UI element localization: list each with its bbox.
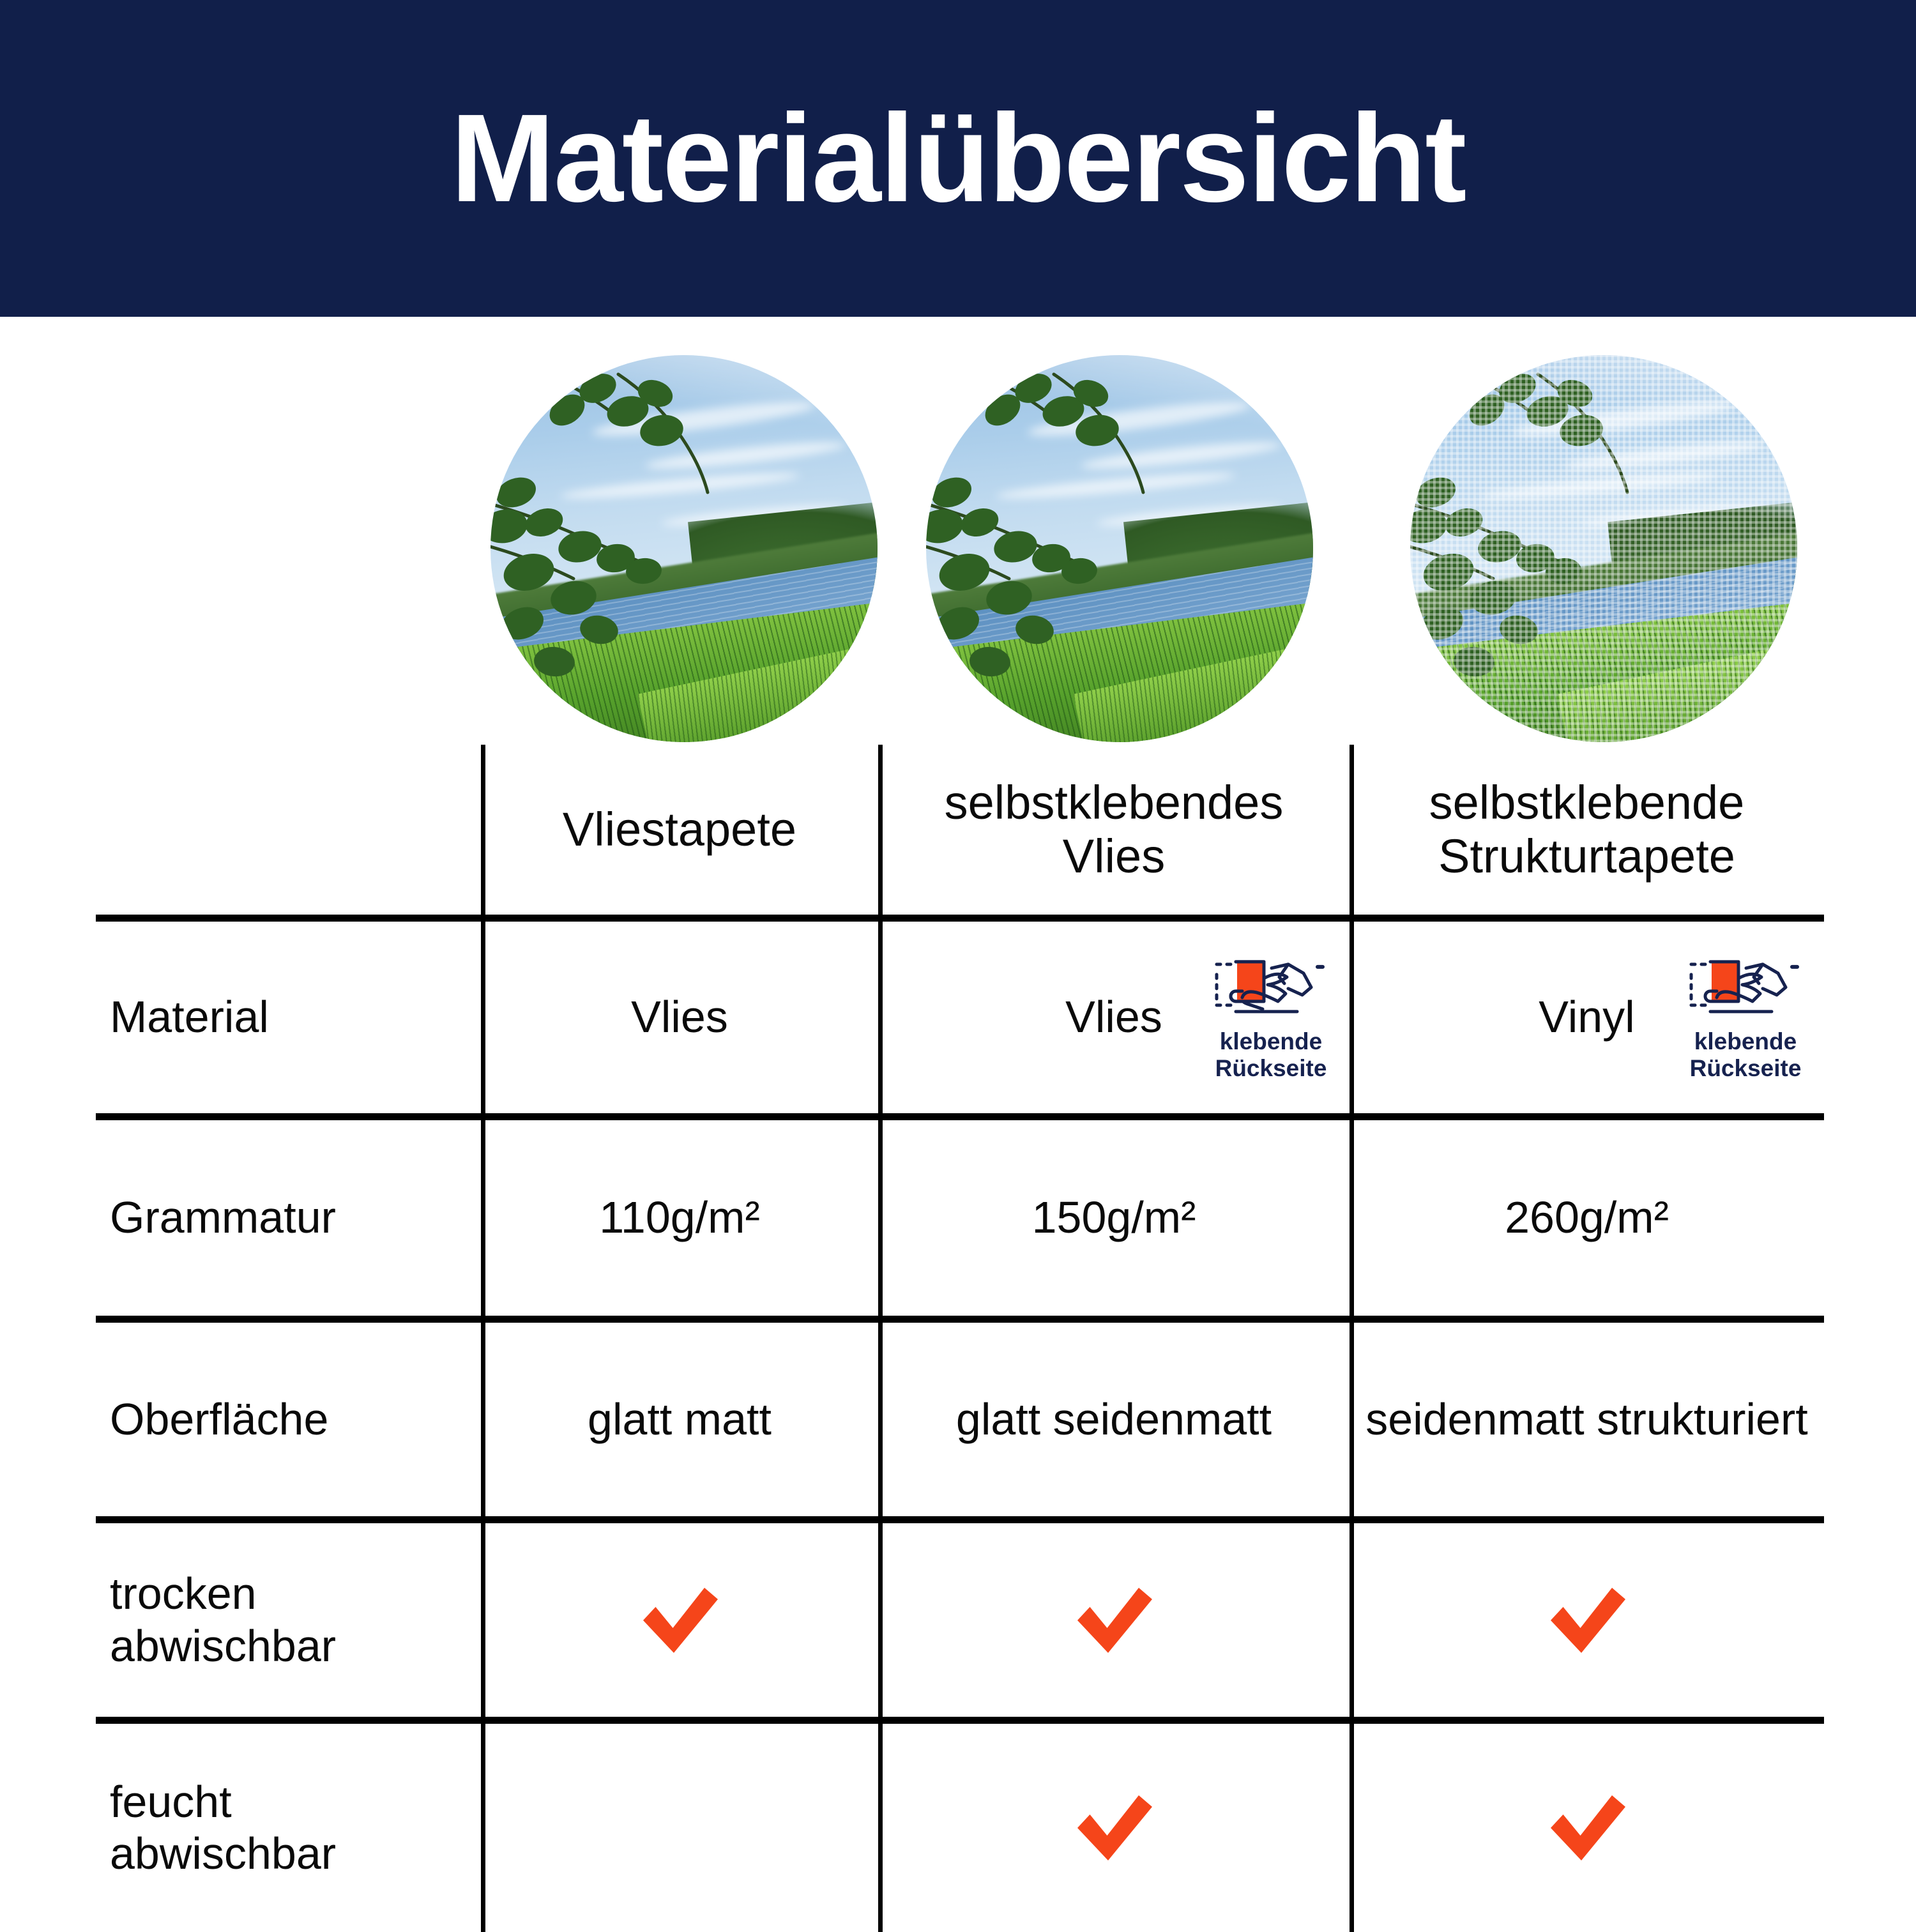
row-label-feucht-abwischbar: feucht abwischbar (96, 1724, 481, 1932)
row-label-oberflaeche: Oberfläche (96, 1323, 481, 1516)
page-title: Materialübersicht (451, 96, 1466, 221)
table-row-feucht-abwischbar: feucht abwischbar (96, 1724, 1824, 1932)
badge-line-1: klebende (1694, 1028, 1797, 1054)
check-icon (1539, 1780, 1635, 1876)
row-divider (96, 1113, 1824, 1120)
cell-grammatur-selbstklebendes-vlies: 150g/m² (878, 1120, 1350, 1316)
cell-feucht-selbstklebendes-vlies (878, 1724, 1350, 1932)
birch-branch-overlay (926, 355, 1313, 742)
lake-scene-image (490, 355, 878, 742)
table-header-row: Vliestapete selbstklebendes Vlies selbst… (96, 745, 1824, 915)
badge-line-2: Rückseite (1690, 1055, 1802, 1081)
adhesive-backing-badge: klebende Rückseite (1676, 953, 1815, 1082)
column-header-vliestapete: Vliestapete (481, 745, 878, 915)
check-icon (1066, 1572, 1162, 1668)
row-divider (96, 1516, 1824, 1523)
cell-feucht-strukturtapete (1350, 1724, 1824, 1932)
check-icon (1539, 1572, 1635, 1668)
row-divider (96, 1316, 1824, 1323)
column-header-selbstklebende-strukturtapete: selbstklebende Strukturtapete (1350, 745, 1824, 915)
cell-material-strukturtapete: Vinyl (1350, 922, 1824, 1113)
cell-oberflaeche-vliestapete: glatt matt (481, 1323, 878, 1516)
cell-trocken-vliestapete (481, 1523, 878, 1717)
adhesive-badge-text: klebende Rückseite (1690, 1028, 1802, 1082)
swatch-row (0, 355, 1916, 745)
row-divider (96, 915, 1824, 922)
cell-oberflaeche-selbstklebendes-vlies: glatt seidenmatt (878, 1323, 1350, 1516)
peel-sticker-hand-icon (1210, 953, 1332, 1024)
peel-sticker-hand-icon (1685, 953, 1806, 1024)
adhesive-backing-badge: klebende Rückseite (1201, 953, 1341, 1082)
table-header-corner (96, 745, 481, 915)
cell-value: Vlies (1065, 991, 1162, 1043)
check-icon (632, 1572, 727, 1668)
cell-oberflaeche-strukturtapete: seidenmatt strukturiert (1350, 1323, 1824, 1516)
cell-grammatur-vliestapete: 110g/m² (481, 1120, 878, 1316)
cell-grammatur-strukturtapete: 260g/m² (1350, 1120, 1824, 1316)
table-row-oberflaeche: Oberfläche glatt matt glatt seidenmatt s… (96, 1323, 1824, 1516)
cell-trocken-selbstklebendes-vlies (878, 1523, 1350, 1717)
table-row-material: Material Vlies Vlies (96, 922, 1824, 1113)
badge-line-2: Rückseite (1215, 1055, 1327, 1081)
material-comparison-table: Vliestapete selbstklebendes Vlies selbst… (96, 745, 1824, 1932)
swatch-selbstklebende-strukturtapete (1410, 355, 1797, 742)
adhesive-badge-text: klebende Rückseite (1215, 1028, 1327, 1082)
table-row-grammatur: Grammatur 110g/m² 150g/m² 260g/m² (96, 1120, 1824, 1316)
cell-material-selbstklebendes-vlies: Vlies (878, 922, 1350, 1113)
birch-branch-overlay (1410, 355, 1797, 742)
lake-scene-image (1410, 355, 1797, 742)
lake-scene-image (926, 355, 1313, 742)
row-label-grammatur: Grammatur (96, 1120, 481, 1316)
cell-feucht-vliestapete (481, 1724, 878, 1932)
cell-trocken-strukturtapete (1350, 1523, 1824, 1717)
row-divider (96, 1717, 1824, 1724)
row-label-material: Material (96, 922, 481, 1113)
cell-material-vliestapete: Vlies (481, 922, 878, 1113)
column-header-selbstklebendes-vlies: selbstklebendes Vlies (878, 745, 1350, 915)
row-label-trocken-abwischbar: trocken abwischbar (96, 1523, 481, 1717)
birch-branch-overlay (490, 355, 878, 742)
check-icon (1066, 1780, 1162, 1876)
swatch-vliestapete (490, 355, 878, 742)
cell-value: Vinyl (1539, 991, 1634, 1043)
header-bar: Materialübersicht (0, 0, 1916, 317)
swatch-selbstklebendes-vlies (926, 355, 1313, 742)
badge-line-1: klebende (1220, 1028, 1322, 1054)
material-overview-page: Materialübersicht (0, 0, 1916, 1916)
table-row-trocken-abwischbar: trocken abwischbar (96, 1523, 1824, 1717)
